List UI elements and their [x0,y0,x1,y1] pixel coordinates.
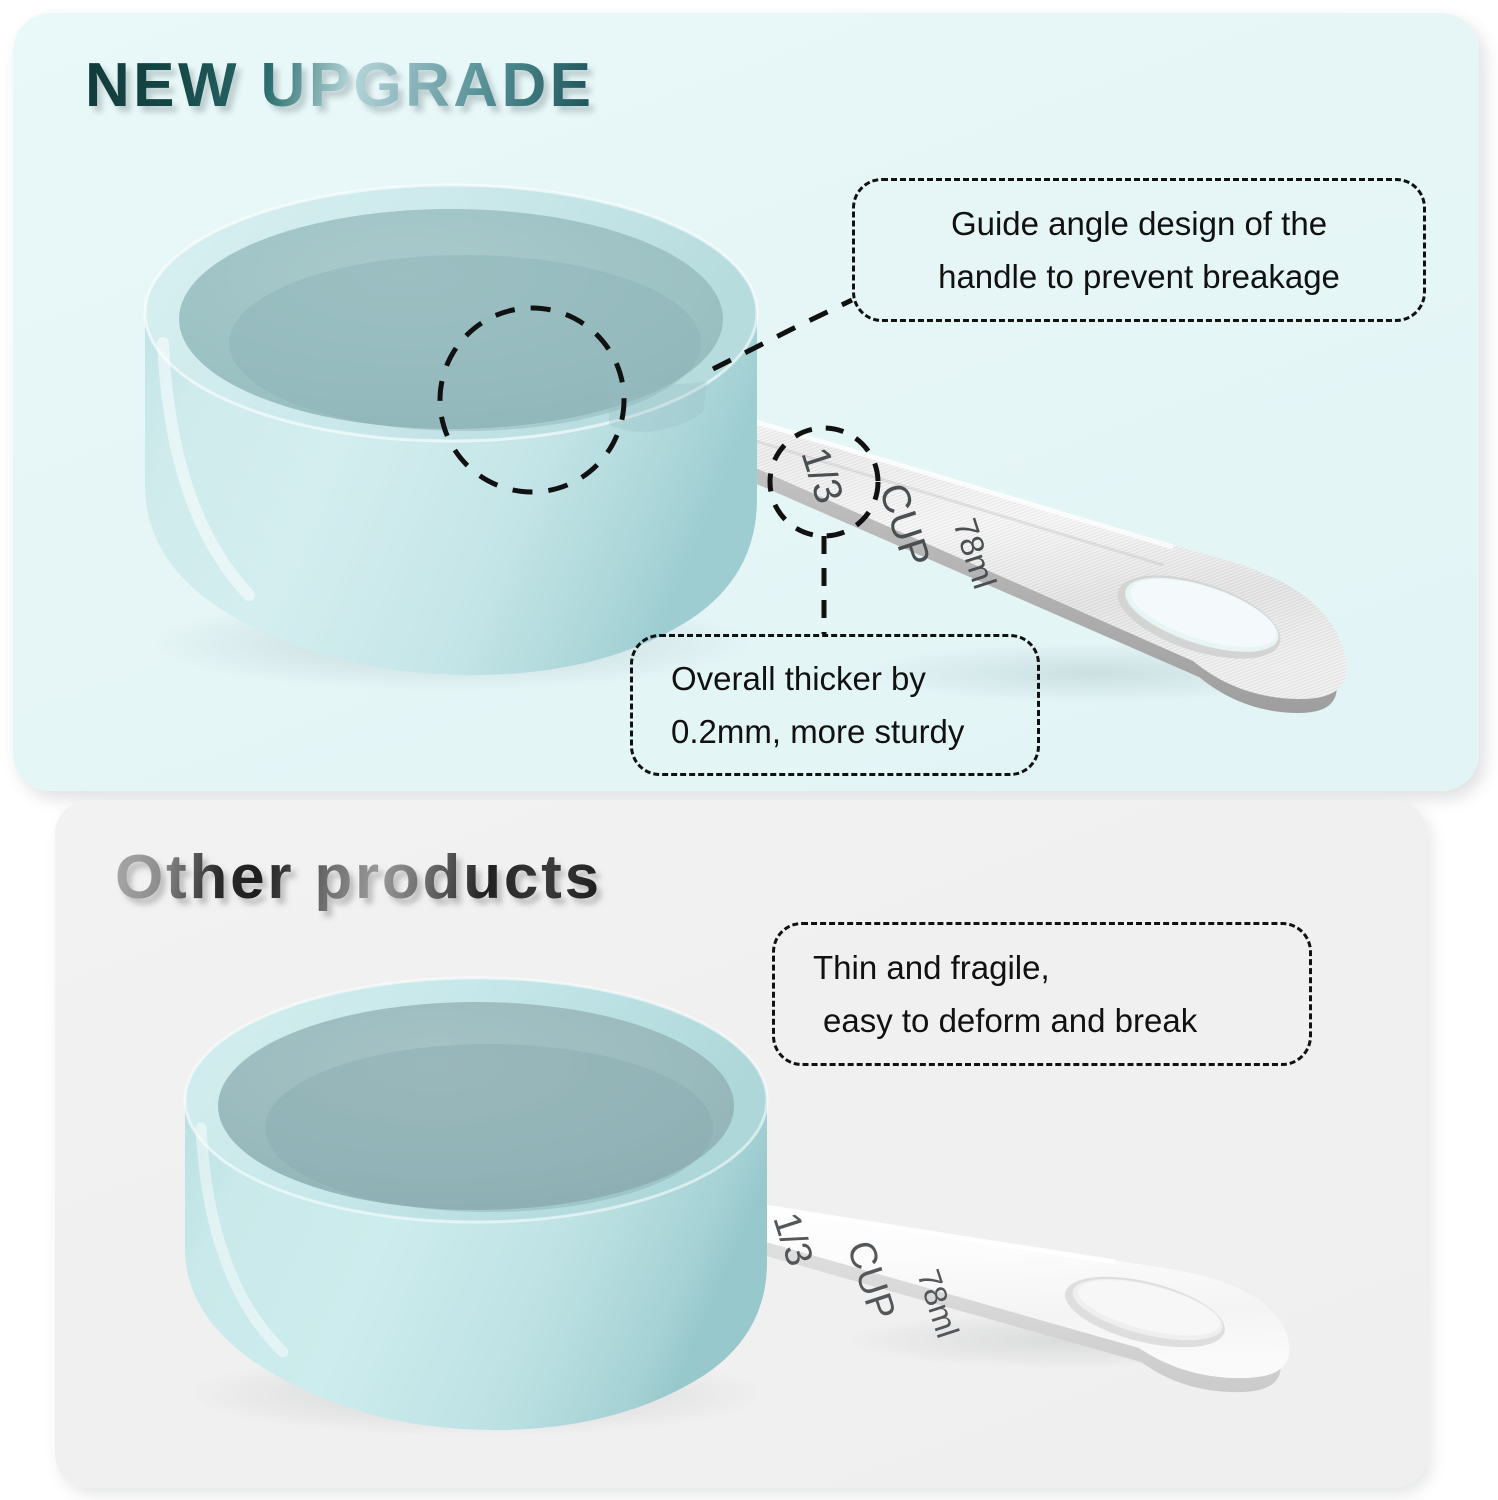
callout-fragile-line-1: Thin and fragile, [813,941,1050,994]
upgraded-cup-body [145,185,757,675]
callout-guide-angle: Guide angle design of the handle to prev… [852,178,1426,322]
callout-overall-thicker: Overall thicker by 0.2mm, more sturdy [630,634,1040,776]
page-title-other-products: Other products [115,842,602,913]
callout-guide-line-1: Guide angle design of the [951,197,1327,250]
infographic-canvas: 1/3 CUP 78ml [0,0,1498,1500]
callout-thicker-line-2: 0.2mm, more sturdy [671,705,964,758]
page-title-new-upgrade: NEW UPGRADE [85,50,594,121]
callout-guide-line-2: handle to prevent breakage [938,250,1340,303]
competitor-cup-body [185,978,767,1430]
callout-thin-fragile: Thin and fragile, easy to deform and bre… [772,922,1312,1066]
callout-thicker-line-1: Overall thicker by [671,652,926,705]
callout-fragile-line-2: easy to deform and break [813,994,1197,1047]
